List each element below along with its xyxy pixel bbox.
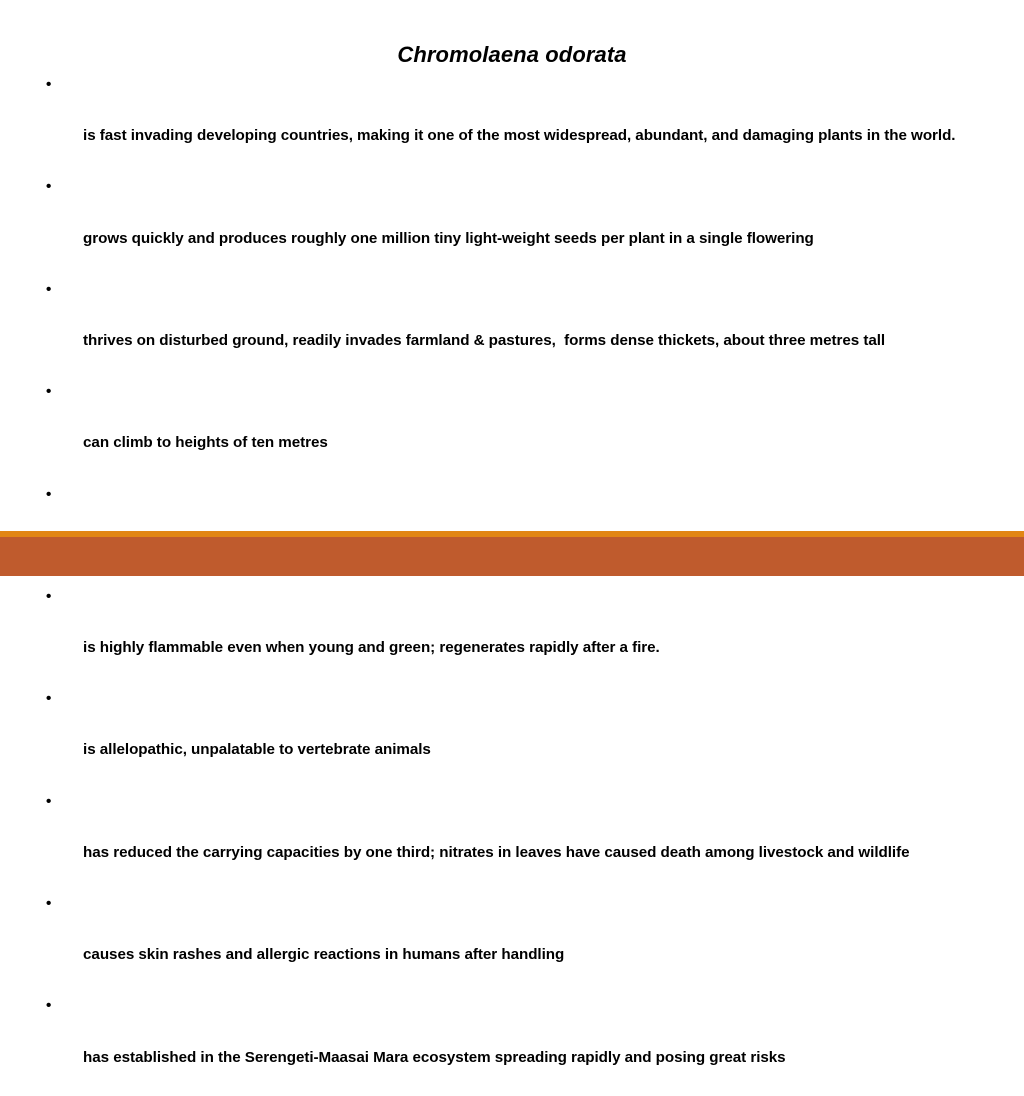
list-item-text: grows quickly and produces roughly one m… — [83, 230, 814, 247]
list-item-text: is allelopathic, unpalatable to vertebra… — [83, 741, 431, 758]
list-item: • has reduced the carrying capacities by… — [46, 789, 990, 891]
list-item-text: is highly flammable even when young and … — [83, 639, 660, 656]
list-item-text: has reduced the carrying capacities by o… — [83, 844, 909, 861]
list-item: • is allelopathic, unpalatable to verteb… — [46, 686, 990, 788]
list-item: • thrives on disturbed ground, readily i… — [46, 277, 990, 379]
bullet-point-icon: • — [46, 584, 51, 610]
list-item-text: can climb to heights of ten metres — [83, 434, 328, 451]
list-item-text: has established in the Serengeti-Maasai … — [83, 1049, 786, 1066]
list-item: • is highly flammable even when young an… — [46, 584, 990, 686]
slide-canvas: Chromolaena odorata • is fast invading d… — [0, 0, 1024, 576]
bullet-list: • is fast invading developing countries,… — [46, 72, 990, 1096]
footer-decoration — [0, 531, 1024, 576]
list-item: • has established in the Serengeti-Maasa… — [46, 993, 990, 1095]
list-item: • is fast invading developing countries,… — [46, 72, 990, 174]
list-item-text: thrives on disturbed ground, readily inv… — [83, 332, 885, 349]
bullet-point-icon: • — [46, 277, 51, 303]
list-item-text: is fast invading developing countries, m… — [83, 127, 955, 144]
bullet-point-icon: • — [46, 482, 51, 508]
bullet-point-icon: • — [46, 789, 51, 815]
list-item: • causes skin rashes and allergic reacti… — [46, 891, 990, 993]
bullet-point-icon: • — [46, 174, 51, 200]
footer-base-band — [0, 537, 1024, 576]
list-item-text: causes skin rashes and allergic reaction… — [83, 946, 564, 963]
bullet-point-icon: • — [46, 72, 51, 98]
list-item: • can climb to heights of ten metres — [46, 379, 990, 481]
page-title: Chromolaena odorata — [0, 44, 1024, 66]
bullet-point-icon: • — [46, 686, 51, 712]
bullet-point-icon: • — [46, 891, 51, 917]
list-item: • grows quickly and produces roughly one… — [46, 174, 990, 276]
bullet-point-icon: • — [46, 993, 51, 1019]
bullet-point-icon: • — [46, 379, 51, 405]
